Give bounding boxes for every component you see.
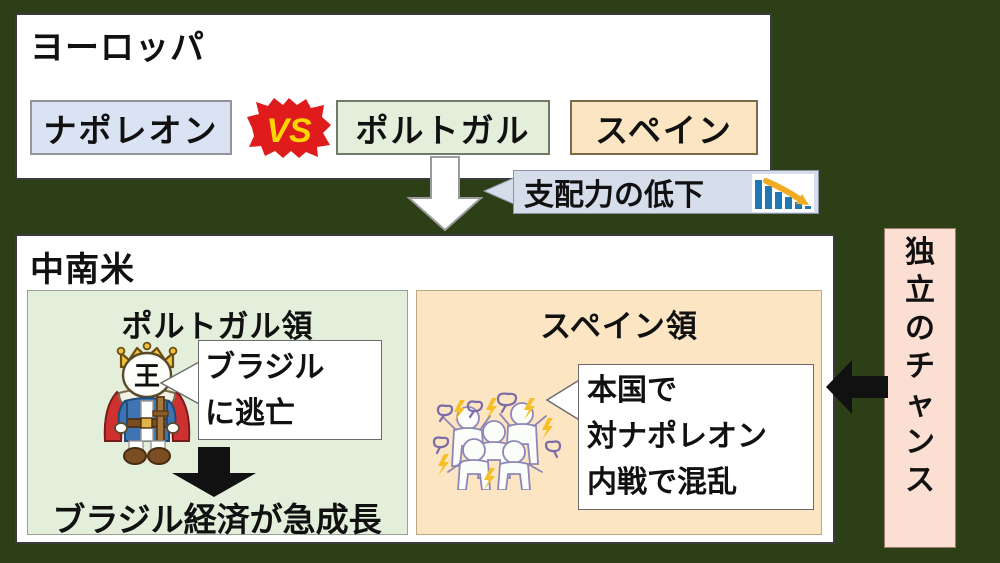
chance-char: ス [905,462,935,500]
chance-char: 独 [905,234,935,272]
svg-text:王: 王 [134,362,160,392]
actor-chip-napoleon[interactable]: ナポレオン [30,100,232,155]
versus-badge-icon: VS [246,97,332,159]
decline-callout-text: 支配力の低下 [524,170,704,214]
spain-callout-bubble: 本国で 対ナポレオン 内戦で混乱 [578,364,814,510]
brazil-callout-bubble: ブラジル に逃亡 [198,340,382,440]
europe-title: ヨーロッパ [30,20,205,69]
chance-char: ン [905,424,935,462]
spanish-territory-heading: スペイン領 [417,301,821,346]
brazil-callout-line-2: に逃亡 [205,391,375,437]
brazil-callout-line-1: ブラジル [205,345,375,391]
brazil-flight-callout: ブラジル に逃亡 [160,340,382,440]
spain-callout-line-1: 本国で [587,368,805,414]
chance-char: チ [905,348,935,386]
left-arrow-icon [826,358,888,416]
spain-callout-line-2: 対ナポレオン [587,414,805,460]
svg-text:VS: VS [266,112,312,150]
chance-char: の [905,310,935,348]
independence-chance-text-column: 独 立 の チ ャ ン ス [884,228,956,548]
chance-char: 立 [905,272,935,310]
callout-tail-icon [483,176,517,206]
actor-chip-portugal[interactable]: ポルトガル [336,100,550,155]
black-down-arrow-icon [168,447,260,497]
decline-callout: 支配力の低下 [483,170,819,214]
spain-callout-line-3: 内戦で混乱 [587,460,805,506]
diagram-canvas: ヨーロッパ ナポレオン VS ポルトガル スペイン 支配力の低下 [0,0,1000,563]
brazil-growth-text: ブラジル経済が急成長 [28,493,406,541]
chance-char: ャ [905,386,935,424]
down-arrow-icon [405,156,485,232]
latin-america-title: 中南米 [30,242,135,291]
callout-tail-icon [546,378,582,422]
callout-tail-icon [160,360,202,406]
spain-turmoil-callout: 本国で 対ナポレオン 内戦で混乱 [546,364,814,510]
decline-callout-bubble: 支配力の低下 [513,170,819,214]
actor-chip-spain[interactable]: スペイン [570,100,758,155]
declining-bar-chart-icon [752,174,814,212]
